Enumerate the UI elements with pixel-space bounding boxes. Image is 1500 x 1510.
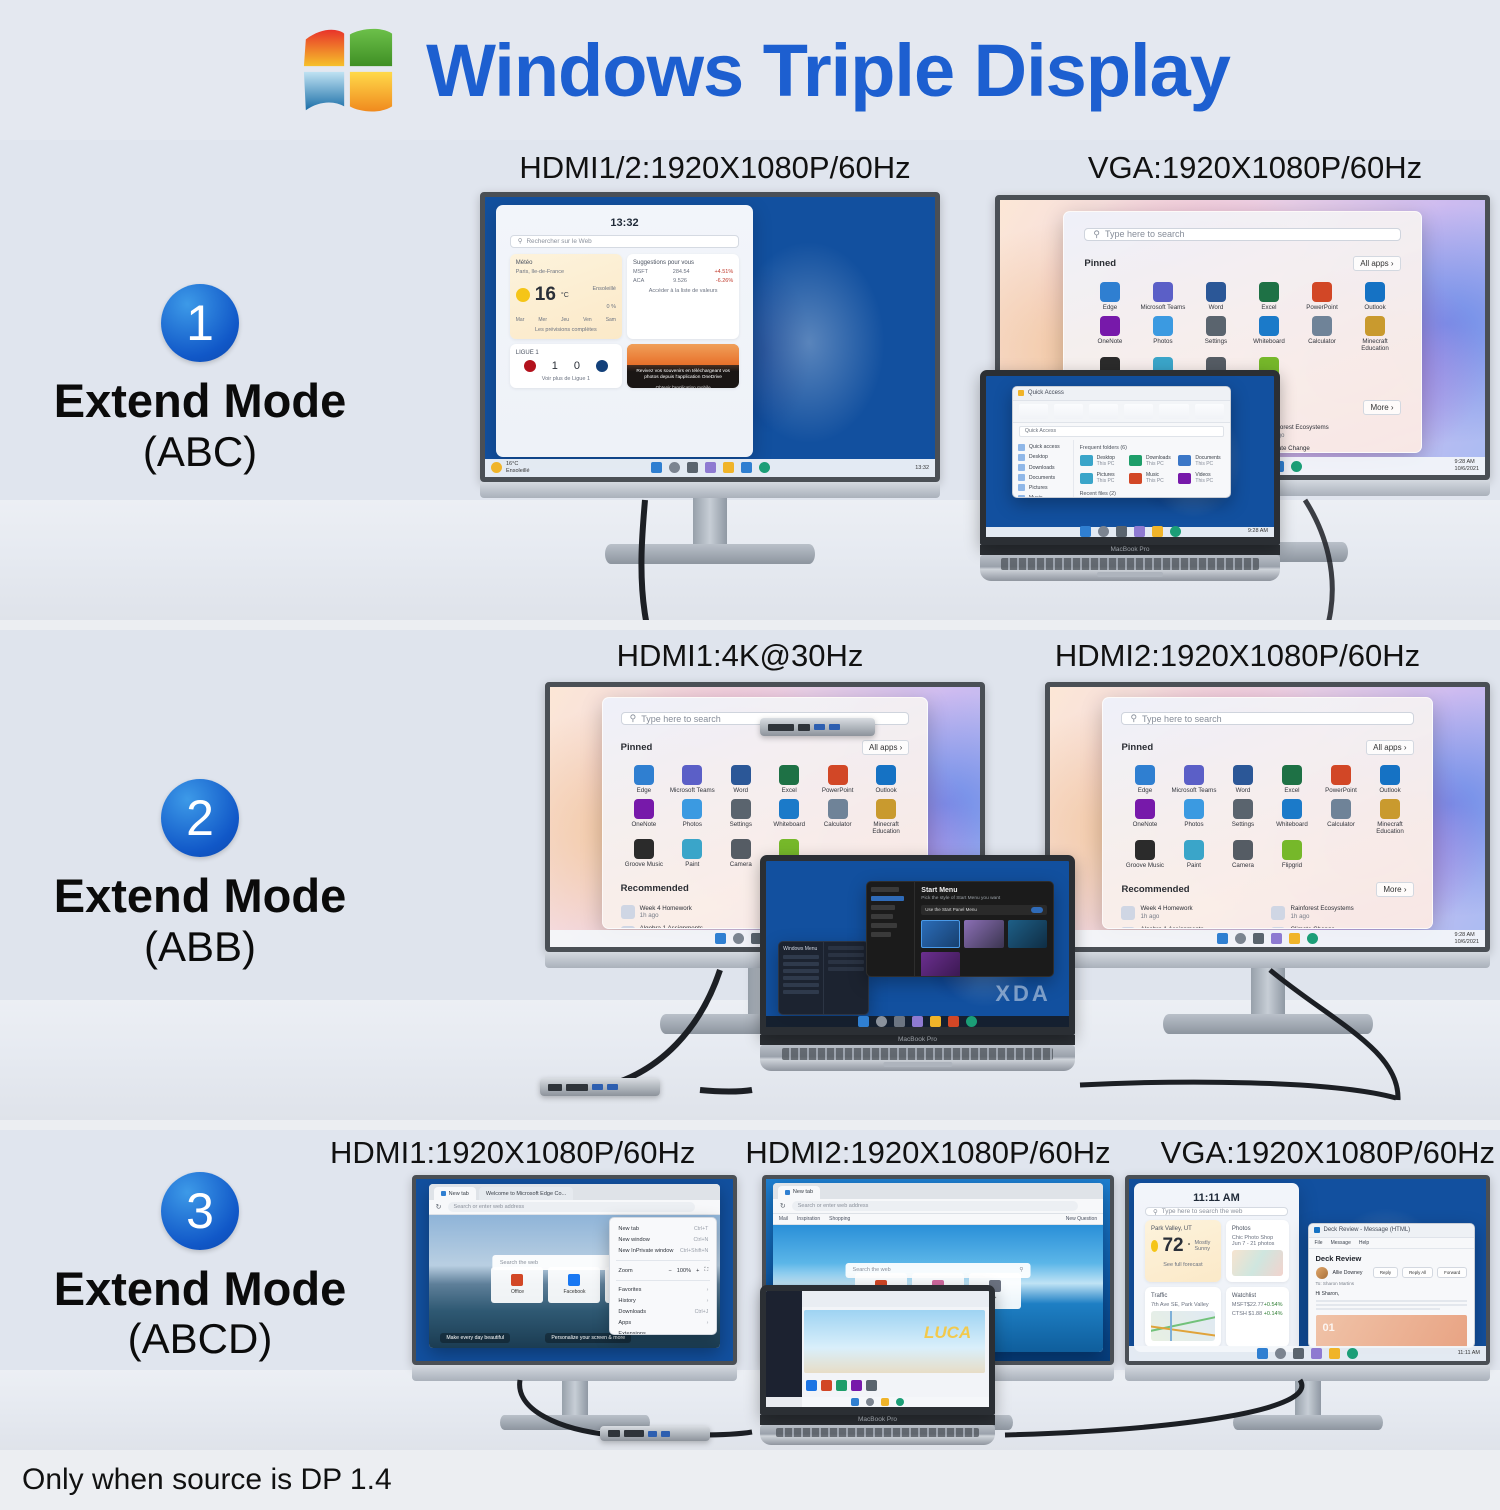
edge-icon[interactable] [1307,933,1318,944]
app-tile-microsoft-teams[interactable]: Microsoft Teams [1170,765,1217,795]
classic-menu-title: Windows Menu [783,946,819,952]
app-icon [1282,799,1302,819]
weather-link[interactable]: Les prévisions complètes [516,327,616,333]
menu-item-extensions[interactable]: Extensions [610,1329,716,1335]
stock-symbol: MSFT [633,269,648,275]
widgets-clock: 11:11 AM [1145,1192,1288,1204]
app-tile-photos[interactable]: Photos [1137,316,1188,353]
ribbon-tab[interactable]: File [1315,1240,1323,1246]
menu-row[interactable] [783,990,819,994]
laptop-base [980,555,1280,581]
app-tile-groove-music[interactable]: Groove Music [621,839,667,869]
app-tile-calculator[interactable]: Calculator [1297,316,1348,353]
app-icon [1380,799,1400,819]
more-button[interactable]: More › [1376,882,1413,897]
app-tile-excel[interactable]: Excel [1243,282,1294,312]
app-icon [1380,765,1400,785]
folder-icon [1178,455,1191,466]
edge-icon[interactable] [896,1398,904,1406]
app-tile-photos[interactable]: Photos [669,799,715,836]
edge-icon[interactable] [1347,1348,1358,1359]
system-tray[interactable]: 11:11 AM [1458,1350,1480,1357]
recommended-item[interactable]: Week 4 Homework1h ago [1121,905,1263,921]
app-tile-flipgrid[interactable]: Flipgrid [1268,840,1315,870]
weather-link[interactable]: See full forecast [1151,1262,1215,1268]
browser-tabstrip[interactable]: New tab Welcome to Microsoft Edge Co... [429,1184,721,1200]
app-label: Excel [782,788,797,795]
start-menu[interactable]: ⚲Type here to searchPinnedAll apps ›Edge… [1102,697,1433,928]
explorer-icon[interactable] [723,462,734,473]
folder-item[interactable]: DocumentsThis PC [1178,455,1223,468]
search-icon[interactable] [876,1016,887,1027]
menu-item-new-window[interactable]: New windowCtrl+N [610,1235,716,1246]
menu-item-new-inprivate-window[interactable]: New InPrivate windowCtrl+Shift+N [610,1246,716,1257]
store-icon[interactable] [741,462,752,473]
folder-item[interactable]: DownloadsThis PC [1129,455,1174,468]
photos-cta[interactable]: Obtenir l'application mobile [627,385,739,388]
app-tile-icon[interactable] [851,1380,862,1391]
menu-item-label: New window [618,1237,649,1243]
start-icon[interactable] [651,462,662,473]
stocks-link[interactable]: Accéder à la liste de valeurs [633,288,733,294]
app-tile-outlook[interactable]: Outlook [1350,282,1401,312]
photos-widget[interactable]: Photos Chic Photo Shop Jun 7 - 21 photos [1226,1220,1289,1282]
browser-settings-menu[interactable]: New tabCtrl+TNew windowCtrl+NNew InPriva… [609,1217,717,1335]
ribbon-tabs[interactable]: FileMessageHelp [1309,1238,1475,1249]
menu-row[interactable] [783,955,819,959]
all-apps-button[interactable]: All apps › [1366,740,1413,755]
nav-item[interactable]: Downloads [1018,464,1068,471]
taskbar[interactable] [766,1016,1069,1027]
breadcrumb: Quick Access [1025,428,1056,434]
explorer-ribbon[interactable] [1013,401,1230,423]
app-tile-microsoft-teams[interactable]: Microsoft Teams [669,765,715,795]
app-tile-camera[interactable]: Camera [1219,840,1266,870]
app-tile-icon[interactable] [806,1380,817,1391]
tile-label: Office [511,1289,524,1295]
app-tile-outlook[interactable]: Outlook [863,765,909,795]
app-tile-edge[interactable]: Edge [621,765,667,795]
taskbar[interactable]: 16°CEnsoleillé 13:32 [485,459,935,477]
explorer-icon[interactable] [930,1016,941,1027]
app-icon [634,765,654,785]
app-tile-whiteboard[interactable]: Whiteboard [1268,799,1315,836]
menu-row[interactable] [783,976,819,980]
start-icon[interactable] [858,1016,869,1027]
collections-button[interactable]: New Question [1066,1216,1097,1222]
app-label: Camera [730,862,752,869]
sd-card-slot [624,1430,644,1437]
search-icon[interactable] [733,933,744,944]
sports-title: LIGUE 1 [516,350,616,356]
browser-toolbar[interactable]: ↻ Search or enter web address [773,1199,1103,1214]
task-view-icon[interactable] [687,462,698,473]
app-icon [1153,316,1173,336]
taskbar[interactable]: 11:11 AM [1129,1346,1486,1361]
app-tile-powerpoint[interactable]: PowerPoint [1317,765,1364,795]
explorer-icon[interactable] [881,1398,889,1406]
recommended-item[interactable]: Climate Change7h ago [1271,926,1413,929]
watchlist-row[interactable]: CTSH$1.88+0.14% [1232,1311,1283,1317]
address-bar[interactable]: Quick Access [1019,426,1224,437]
email-action-reply[interactable]: Reply [1373,1267,1398,1278]
all-apps-button[interactable]: All apps › [1353,256,1400,271]
menu-item-accel: › [707,1298,709,1304]
quick-link-tile[interactable]: Office [491,1267,543,1303]
folder-icon [1080,473,1093,484]
toggle-switch[interactable] [1031,907,1043,913]
app-tile-icon[interactable] [836,1380,847,1391]
app-icon [828,765,848,785]
favorites-bar[interactable]: MailInspirationShoppingNew Question [773,1214,1103,1225]
settings-toggle-row[interactable]: Use the Start Panel Menu [921,905,1047,915]
app-label: Photos [1184,822,1203,829]
section-3: 3 Extend Mode (ABCD) HDMI1:1920X1080P/60… [0,1130,1500,1450]
pinned-apps-grid: EdgeMicrosoft TeamsWordExcelPowerPointOu… [1121,765,1413,870]
nav-item[interactable]: Desktop [1018,454,1068,461]
app-label: Whiteboard [1276,822,1308,829]
app-tile-settings[interactable]: Settings [718,799,764,836]
ribbon-tab[interactable]: Help [1359,1240,1369,1246]
laptop-brand: MacBook Pro [980,545,1280,555]
start-icon[interactable] [1080,526,1091,537]
folder-item[interactable]: PicturesThis PC [1080,472,1125,485]
weather-unit: ° [1188,1243,1191,1250]
nav-label: Pictures [1029,485,1048,491]
address-input[interactable]: Search or enter web address [792,1201,1078,1211]
reload-icon[interactable]: ↻ [780,1202,786,1210]
browser-toolbar[interactable]: ↻ Search or enter web address [429,1200,721,1215]
stocks-widget[interactable]: Suggestions pour vous MSFT284.54+4.51%AC… [627,254,739,339]
recommended-item[interactable]: Rainforest Ecosystems1h ago [1271,905,1413,921]
ribbon-group[interactable] [1019,404,1048,419]
start-icon[interactable] [851,1398,859,1406]
app-tile-word[interactable]: Word [718,765,764,795]
wallpaper-caption[interactable]: Make every day beautiful [440,1333,510,1343]
menu-item-apps[interactable]: Apps› [610,1318,716,1329]
address-input[interactable]: Search or enter web address [448,1202,696,1212]
stock-symbol: MSFT [1232,1302,1247,1308]
app-tile-icon[interactable] [866,1380,877,1391]
search-icon: ⚲ [1130,713,1137,724]
app-tile-settings[interactable]: Settings [1219,799,1266,836]
settings-nav-item[interactable] [871,905,895,910]
nav-label: Music [1029,495,1043,498]
task-view-icon[interactable] [1253,933,1264,944]
office-icon[interactable] [948,1016,959,1027]
watchlist-title: Watchlist [1232,1293,1283,1299]
app-tile-minecraft-education[interactable]: Minecraft Education [863,799,909,836]
file-explorer-window[interactable]: Quick Access Quick Access Quick accessDe… [1012,386,1231,499]
caption-hdmi2-2: HDMI2:1920X1080P/60Hz [985,638,1490,674]
app-tile-powerpoint[interactable]: PowerPoint [1297,282,1348,312]
favorite-link[interactable]: Mail [779,1216,788,1222]
stocks-list: MSFT284.54+4.51%ACA9.526-6.26% [633,269,733,284]
settings-nav-item[interactable] [871,887,899,892]
window-titlebar[interactable]: Deck Review - Message (HTML) [1309,1224,1475,1238]
ribbon-tab[interactable]: Message [1331,1240,1351,1246]
outlook-window[interactable]: Deck Review - Message (HTML) FileMessage… [1308,1223,1476,1349]
classic-start-menu[interactable]: Windows Menu [778,941,869,1016]
folder-item[interactable]: MusicThis PC [1129,472,1174,485]
start-icon[interactable] [1257,1348,1268,1359]
app-toolbar[interactable] [802,1291,989,1307]
edge-icon[interactable] [966,1016,977,1027]
menu-item-downloads[interactable]: DownloadsCtrl+J [610,1306,716,1317]
settings-nav-item-active[interactable] [871,896,904,901]
watchlist-row[interactable]: MSFT$22.77+0.54% [1232,1302,1283,1308]
zoom-control[interactable]: Zoom−100%+⛶ [610,1264,716,1277]
stock-change: +0.14% [1264,1311,1283,1317]
edge-icon[interactable] [759,462,770,473]
menu-row[interactable] [783,962,819,966]
widgets-panel-en[interactable]: 11:11 AM ⚲Type here to search the web Pa… [1134,1183,1298,1352]
widgets-clock: 13:32 [510,217,740,229]
folder-icon [1018,474,1025,481]
photos-widget[interactable]: Revivez vos souvenirs en téléchargeant v… [627,344,739,388]
app-tile-photos[interactable]: Photos [1170,799,1217,836]
explorer-icon[interactable] [1152,526,1163,537]
edge-browser-window[interactable]: New tab Welcome to Microsoft Edge Co... … [429,1184,721,1348]
stock-row[interactable]: MSFT284.54+4.51% [633,269,733,275]
app-tile-onenote[interactable]: OneNote [1121,799,1168,836]
start-icon[interactable] [715,933,726,944]
style-option-tile[interactable] [1008,920,1047,948]
zoom-out-button[interactable]: − [669,1268,672,1274]
nav-label: Documents [1029,475,1055,481]
sports-link[interactable]: Voir plus de Ligue 1 [516,376,616,382]
nav-item[interactable]: Music [1018,495,1068,499]
rec-time: 1h ago [1140,913,1192,921]
app-icon [1135,799,1155,819]
taskbar[interactable]: 9:28 AM10/6/2021 [1050,930,1485,947]
search-icon[interactable] [866,1398,874,1406]
recent-files-label: Recent files (2) [1080,491,1224,497]
usb-a-port [829,724,840,730]
menu-item-favorites[interactable]: Favorites› [610,1284,716,1295]
recommended-text: Rainforest Ecosystems1h ago [1290,905,1353,921]
app-tile-powerpoint[interactable]: PowerPoint [814,765,860,795]
browser-tabstrip[interactable]: New tab [773,1183,1103,1199]
app-tile-edge[interactable]: Edge [1121,765,1168,795]
app-tile-outlook[interactable]: Outlook [1367,765,1414,795]
ribbon-group[interactable] [1089,404,1118,419]
app-tile-whiteboard[interactable]: Whiteboard [766,799,812,836]
taskbar[interactable]: 9:28 AM [986,527,1274,537]
slide-preview[interactable]: 01 [1316,1315,1468,1349]
style-option-tile[interactable] [921,952,960,977]
app-icon [1184,765,1204,785]
zoom-label: Zoom [618,1268,632,1274]
stock-price: $1.88 [1248,1311,1262,1317]
email-action-reply-all[interactable]: Reply All [1402,1267,1433,1278]
start-search-input[interactable]: ⚲Type here to search [1084,228,1400,241]
monitor-stand-base [605,544,815,564]
stock-row[interactable]: ACA9.526-6.26% [633,278,733,284]
more-button[interactable]: More › [1363,400,1400,415]
section-2: 2 Extend Mode (ABB) HDMI1:4K@30Hz HDMI2:… [0,630,1500,1120]
app-label: Microsoft Teams [670,788,715,795]
widgets-icon[interactable] [912,1016,923,1027]
start-icon[interactable] [1217,933,1228,944]
recommended-item[interactable]: Algebra 1 Assignments4h ago [621,925,761,929]
widgets-icon[interactable] [705,462,716,473]
browser-tab-1[interactable]: New tab [778,1186,820,1199]
search-icon[interactable] [1235,933,1246,944]
system-tray[interactable]: 9:28 AM10/6/2021 [1455,459,1479,472]
app-tile-icon[interactable] [821,1380,832,1391]
app-tile-excel[interactable]: Excel [1268,765,1315,795]
folder-text: PicturesThis PC [1097,472,1115,485]
folder-item[interactable]: VideosThis PC [1178,472,1223,485]
all-apps-button[interactable]: All apps › [862,740,909,755]
browser-tab-1[interactable]: New tab [434,1187,476,1200]
task-view-icon[interactable] [1116,526,1127,537]
app-tile-calculator[interactable]: Calculator [814,799,860,836]
recommended-item[interactable]: Week 4 Homework1h ago [621,905,761,921]
explorer-nav-pane[interactable]: Quick accessDesktopDownloadsDocumentsPic… [1013,440,1074,499]
folder-item[interactable]: DesktopThis PC [1080,455,1125,468]
email-recipients: To: Sharon Martins [1316,1281,1468,1286]
menu-row[interactable] [828,953,864,957]
app-tile-edge[interactable]: Edge [1084,282,1135,312]
browser-tab-2[interactable]: Welcome to Microsoft Edge Co... [479,1187,573,1200]
window-title: Deck Review - Message (HTML) [1324,1227,1411,1233]
edge-icon[interactable] [1291,461,1302,472]
section-mode-sub-3: (ABCD) [128,1315,273,1363]
weather-widget[interactable]: Météo Paris, Ile-de-France 16 °C Ensolei… [510,254,622,339]
zoom-in-button[interactable]: + [696,1268,699,1274]
app-icon [731,799,751,819]
style-option-tile[interactable] [921,920,960,948]
widgets-search-input[interactable]: ⚲Type here to search the web [1145,1207,1288,1215]
forecast-day: Mer [538,317,547,323]
settings-nav-item[interactable] [871,923,897,928]
recommended-item[interactable]: Algebra 1 Assignments4h ago [1121,926,1263,929]
email-actions[interactable]: ReplyReply AllForward [1373,1267,1467,1278]
weather-widget[interactable]: Park Valley, UT 72 ° Mostly Sunny See fu… [1145,1220,1221,1282]
menu-item-accel: Ctrl+N [693,1237,708,1243]
sports-widget[interactable]: LIGUE 1 1 0 Voir plus de Ligue 1 [510,344,622,388]
menu-item-history[interactable]: History› [610,1295,716,1306]
taskbar-weather[interactable]: 16°CEnsoleillé [491,461,530,474]
menu-item-accel: Ctrl+J [695,1309,709,1315]
monitor-chin [1125,1365,1490,1381]
weather-unit: °C [561,292,569,299]
email-action-forward[interactable]: Forward [1437,1267,1467,1278]
search-icon[interactable] [669,462,680,473]
favorite-link[interactable]: Inspiration [797,1216,820,1222]
app-sidebar[interactable] [766,1291,802,1407]
menu-row[interactable] [783,969,819,973]
system-tray[interactable]: 13:32 [915,465,929,472]
settings-window[interactable]: Start Menu Pick the style of Start Menu … [866,881,1054,977]
reload-icon[interactable]: ↻ [436,1203,442,1211]
folder-name: Downloads [1146,455,1171,461]
widgets-icon[interactable] [1271,933,1282,944]
menu-row[interactable] [828,946,864,950]
avatar [1316,1267,1328,1279]
app-tile-calculator[interactable]: Calculator [1317,799,1364,836]
folder-name: Documents [1195,455,1220,461]
app-tile-minecraft-education[interactable]: Minecraft Education [1367,799,1414,836]
app-tile-onenote[interactable]: OneNote [1084,316,1135,353]
sports-score-b: 0 [574,360,580,372]
ribbon-group[interactable] [1195,404,1224,419]
app-label: Microsoft Teams [1140,305,1185,312]
nav-item[interactable]: Pictures [1018,484,1068,491]
quick-link-tile[interactable]: Facebook [548,1267,600,1303]
folder-text: DesktopThis PC [1097,455,1115,468]
app-tile-onenote[interactable]: OneNote [621,799,667,836]
fullscreen-icon[interactable]: ⛶ [704,1267,708,1274]
ribbon-group[interactable] [1159,404,1188,419]
search-icon[interactable] [1275,1348,1286,1359]
system-tray[interactable]: 9:28 AM10/6/2021 [1455,932,1479,945]
app-tile-camera[interactable]: Camera [718,839,764,869]
widgets-search-input[interactable]: ⚲Rechercher sur le Web [510,235,740,248]
app-tile-word[interactable]: Word [1190,282,1241,312]
app-tile-microsoft-teams[interactable]: Microsoft Teams [1137,282,1188,312]
app-tile-whiteboard[interactable]: Whiteboard [1243,316,1294,353]
widgets-icon[interactable] [1134,526,1145,537]
app-tile-minecraft-education[interactable]: Minecraft Education [1350,316,1401,353]
nav-item[interactable]: Quick access [1018,444,1068,451]
luca-title: LUCA [924,1323,971,1343]
taskbar[interactable] [766,1397,989,1407]
app-tile-word[interactable]: Word [1219,765,1266,795]
ribbon-group[interactable] [1054,404,1083,419]
app-tile-paint[interactable]: Paint [1170,840,1217,870]
explorer-icon[interactable] [1289,933,1300,944]
task-view-icon[interactable] [1293,1348,1304,1359]
ribbon-group[interactable] [1124,404,1153,419]
settings-nav-item[interactable] [871,914,893,919]
widgets-panel-fr[interactable]: 13:32 ⚲Rechercher sur le Web Météo Paris… [496,205,753,457]
usb-a-port [661,1431,670,1437]
watchlist-widget[interactable]: Watchlist MSFT$22.77+0.54%CTSH$1.88+0.14… [1226,1287,1289,1347]
favorite-link[interactable]: Shopping [829,1216,850,1222]
app-label: Paint [685,862,699,869]
search-icon[interactable] [1098,526,1109,537]
menu-row[interactable] [828,960,864,964]
monitor-hdmi1-3: New tab Welcome to Microsoft Edge Co... … [412,1175,737,1430]
app-tile-settings[interactable]: Settings [1190,316,1241,353]
menu-row[interactable] [828,967,864,971]
app-icon [876,799,896,819]
nav-item[interactable]: Documents [1018,474,1068,481]
explorer-icon[interactable] [1329,1348,1340,1359]
start-search-input[interactable]: ⚲Type here to search [1121,712,1413,725]
widgets-icon[interactable] [1311,1348,1322,1359]
tray-clock: 9:28 AM10/6/2021 [1455,932,1479,945]
app-tile-paint[interactable]: Paint [669,839,715,869]
task-view-icon[interactable] [894,1016,905,1027]
app-tile-groove-music[interactable]: Groove Music [1121,840,1168,870]
folder-sub: This PC [1146,478,1164,484]
menu-row[interactable] [783,983,819,987]
menu-item-new-tab[interactable]: New tabCtrl+T [610,1223,716,1234]
edge-icon[interactable] [1170,526,1181,537]
window-titlebar[interactable]: Quick Access [1013,387,1230,401]
style-option-tile[interactable] [964,920,1003,948]
traffic-widget[interactable]: Traffic 7th Ave SE, Park Valley [1145,1287,1221,1347]
app-tile-excel[interactable]: Excel [766,765,812,795]
settings-title: Start Menu [921,887,1047,894]
infographic-page: Windows Triple Display 1 Extend Mode (AB… [0,0,1500,1500]
pinned-label: Pinned [1084,258,1116,269]
settings-nav-item[interactable] [871,932,891,937]
